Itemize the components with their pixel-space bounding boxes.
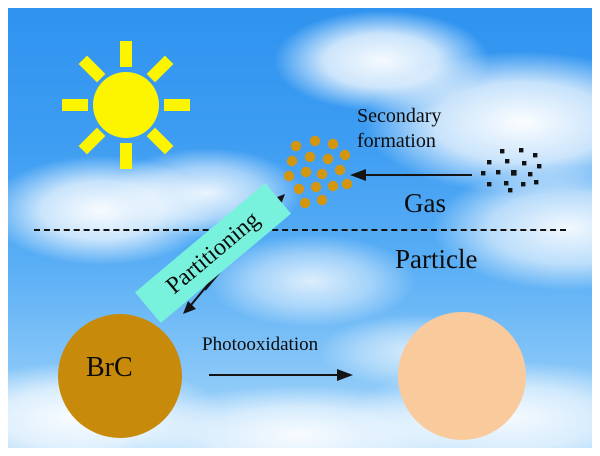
particle-phase-label: Particle xyxy=(395,244,477,275)
gas-particle-phase-divider xyxy=(34,229,566,231)
secondary-formation-line-1: Secondary xyxy=(357,104,441,129)
photooxidation-label: Photooxidation xyxy=(202,334,318,356)
secondary-formation-label: Secondary formation xyxy=(357,104,441,154)
sun-ray-west xyxy=(62,99,88,111)
secondary-formation-line-2: formation xyxy=(357,129,441,154)
sun-ray-northwest xyxy=(79,56,106,83)
sun-ray-southwest xyxy=(79,128,106,155)
photobleached-particle-circle xyxy=(398,312,526,440)
sun-disc xyxy=(93,72,159,138)
sun-ray-northeast xyxy=(147,56,174,83)
sun-ray-southeast xyxy=(147,128,174,155)
brc-process-diagram: Partitioning Secondary formation Gas Par… xyxy=(0,0,600,456)
sun-ray-north xyxy=(120,41,132,67)
sun-ray-south xyxy=(120,143,132,169)
gas-phase-label: Gas xyxy=(404,188,446,219)
brc-label: BrC xyxy=(86,352,133,384)
sun-ray-east xyxy=(164,99,190,111)
sun-icon xyxy=(62,41,190,169)
